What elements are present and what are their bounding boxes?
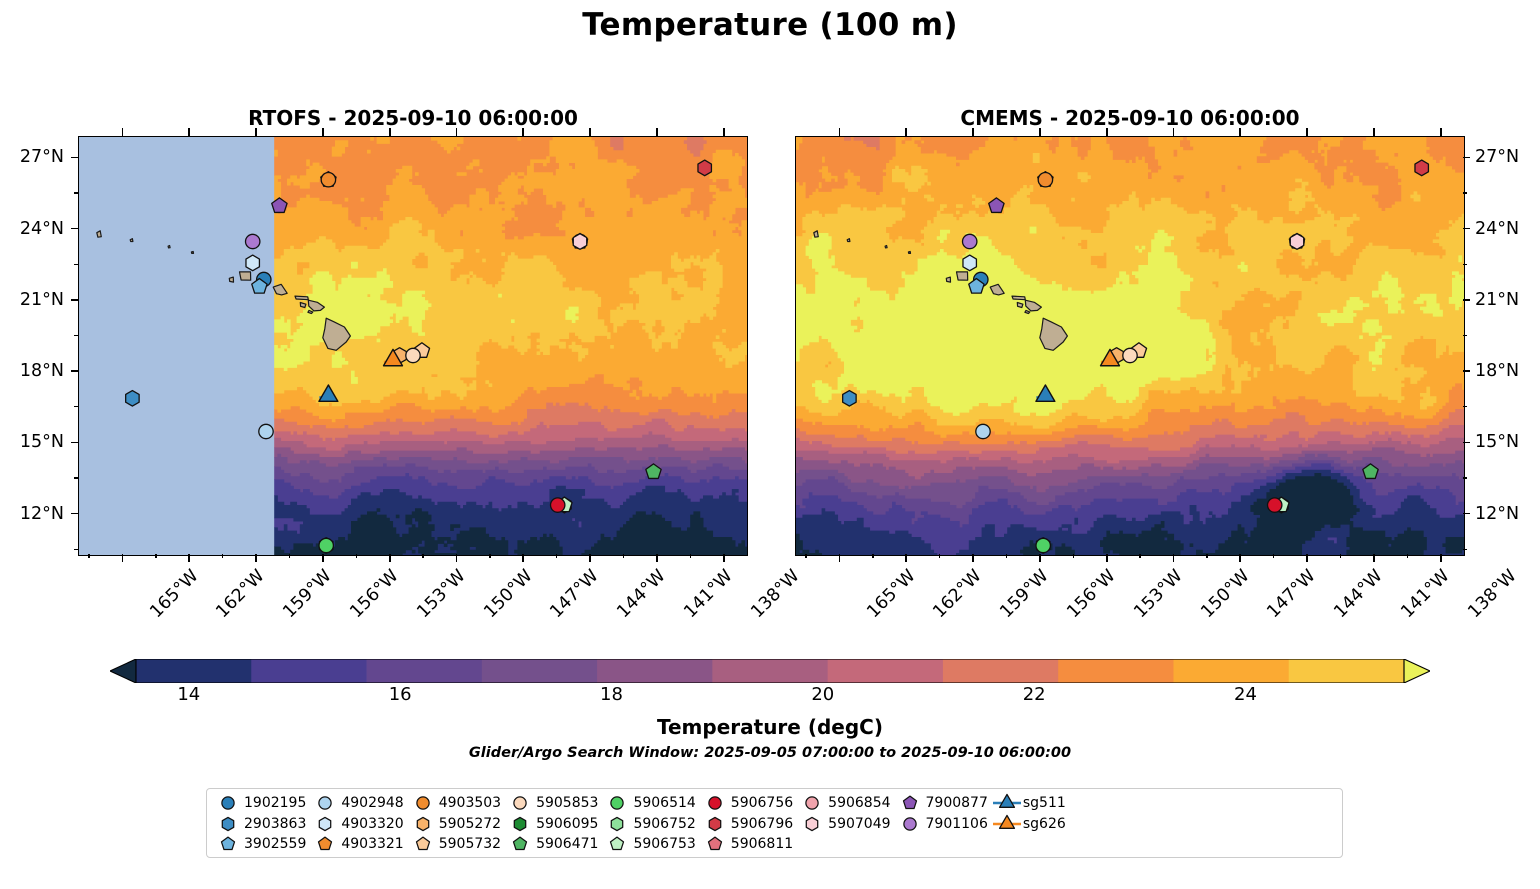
legend-item-4902948[interactable]: 4902948 [310, 793, 407, 814]
legend-item-5905732[interactable]: 5905732 [408, 834, 505, 855]
legend-label: 7901106 [925, 816, 988, 832]
legend-marker-hexagon-icon [602, 814, 632, 834]
xtick-major [1173, 554, 1175, 562]
legend-label: 5906796 [730, 816, 793, 832]
xtick-major [322, 554, 324, 562]
legend-label: 5905853 [535, 795, 598, 811]
colorbar-tick-1: 16 [360, 684, 440, 705]
xtick-major [522, 554, 524, 562]
legend-label: 4903321 [340, 836, 403, 852]
xtick-label-rtofs-5: 150°W [480, 566, 536, 622]
ytick-minor [74, 192, 78, 193]
ytick-label-rtofs-1: 24°N [0, 219, 64, 239]
xtick-major-top [1239, 128, 1241, 136]
ytick-major [1463, 228, 1470, 230]
xtick-minor [155, 554, 156, 558]
legend-label: 5906756 [730, 795, 793, 811]
legend-item-5906756[interactable]: 5906756 [700, 793, 797, 814]
xtick-label-cmems-6: 147°W [1264, 566, 1320, 622]
legend-item-5906752[interactable]: 5906752 [602, 814, 699, 835]
colorbar-tick-2: 18 [572, 684, 652, 705]
xtick-major-top [122, 128, 124, 136]
ytick-label-rtofs-4: 15°N [0, 432, 64, 452]
legend-item-5906095[interactable]: 5906095 [505, 814, 602, 835]
xtick-minor [1006, 554, 1007, 558]
legend-item-5907049[interactable]: 5907049 [797, 814, 894, 835]
xtick-label-cmems-1: 162°W [930, 566, 986, 622]
xtick-label-rtofs-8: 141°W [680, 566, 736, 622]
xtick-major [122, 554, 124, 562]
colorbar [110, 659, 1430, 683]
ytick-major [71, 157, 78, 159]
xtick-major [839, 554, 841, 562]
ytick-label-cmems-2: 21°N [1475, 290, 1540, 310]
legend-marker-pentagon-icon [213, 834, 243, 854]
xtick-label-cmems-5: 150°W [1197, 566, 1253, 622]
xtick-major-top [456, 128, 458, 136]
legend-item-5905272[interactable]: 5905272 [408, 814, 505, 835]
legend-marker-pentagon-icon [408, 834, 438, 854]
legend-item-5905853[interactable]: 5905853 [505, 793, 602, 814]
ytick-minor [1463, 335, 1467, 336]
ytick-label-cmems-3: 18°N [1475, 361, 1540, 381]
xtick-label-cmems-4: 153°W [1130, 566, 1186, 622]
legend-item-4903321[interactable]: 4903321 [310, 834, 407, 855]
legend-marker-hexagon-icon [310, 814, 340, 834]
legend-label: 5906811 [730, 836, 793, 852]
ytick-minor [74, 477, 78, 478]
ytick-minor [1463, 406, 1467, 407]
legend-marker-pentagon-icon [895, 793, 925, 813]
colorbar-tick-5: 24 [1206, 684, 1286, 705]
ytick-minor [1463, 192, 1467, 193]
xtick-major [255, 554, 257, 562]
legend-item-2903863[interactable]: 2903863 [213, 814, 310, 835]
ytick-major [1463, 299, 1470, 301]
xtick-minor [1206, 554, 1207, 558]
xtick-major-top [1173, 128, 1175, 136]
xtick-label-cmems-0: 165°W [863, 566, 919, 622]
legend-label: 5906752 [632, 816, 695, 832]
xtick-label-rtofs-2: 159°W [280, 566, 336, 622]
legend-marker-pentagon-icon [505, 834, 535, 854]
xtick-label-cmems-9: 138°W [1464, 566, 1520, 622]
legend-marker-pentagon-icon [310, 834, 340, 854]
legend-label: 4903320 [340, 816, 403, 832]
xtick-minor [1407, 554, 1408, 558]
xtick-major-top [389, 128, 391, 136]
xtick-minor [805, 554, 806, 558]
ytick-minor [1463, 549, 1467, 550]
xtick-minor [872, 554, 873, 558]
ytick-major [1463, 157, 1470, 159]
ytick-minor [74, 549, 78, 550]
map-panel-rtofs[interactable] [78, 136, 748, 556]
xtick-major [723, 554, 725, 562]
xtick-label-rtofs-3: 156°W [346, 566, 402, 622]
legend-label: 5905732 [438, 836, 501, 852]
legend-item-1902195[interactable]: 1902195 [213, 793, 310, 814]
ytick-major [71, 370, 78, 372]
xtick-minor [1073, 554, 1074, 558]
legend-label: sg626 [1022, 816, 1066, 832]
xtick-major [905, 554, 907, 562]
colorbar-title: Temperature (degC) [0, 715, 1540, 739]
ytick-minor [1463, 264, 1467, 265]
xtick-minor [489, 554, 490, 558]
legend-label: 4903503 [438, 795, 501, 811]
legend-item-4903320[interactable]: 4903320 [310, 814, 407, 835]
xtick-minor [88, 554, 89, 558]
xtick-major [1039, 554, 1041, 562]
xtick-major [1373, 554, 1375, 562]
xtick-major [1239, 554, 1241, 562]
legend-marker-pentagon-icon [700, 834, 730, 854]
xtick-major [589, 554, 591, 562]
legend-marker-triangle-line-icon [992, 814, 1022, 834]
legend-item-7901106[interactable]: 7901106 [895, 814, 992, 835]
xtick-major [456, 554, 458, 562]
xtick-major-top [322, 128, 324, 136]
ytick-minor [74, 406, 78, 407]
search-window-caption: Glider/Argo Search Window: 2025-09-05 07… [0, 745, 1540, 761]
legend-marker-hexagon-icon [213, 814, 243, 834]
legend-label: 5906514 [632, 795, 695, 811]
xtick-major [188, 554, 190, 562]
legend-marker-triangle-line-icon [992, 793, 1022, 813]
xtick-major-top [1106, 128, 1108, 136]
colorbar-tick-3: 20 [783, 684, 863, 705]
xtick-minor [1273, 554, 1274, 558]
ytick-label-rtofs-5: 12°N [0, 504, 64, 524]
legend-item-sg511[interactable]: sg511 [992, 793, 1070, 814]
ytick-major [1463, 370, 1470, 372]
xtick-minor [222, 554, 223, 558]
ytick-minor [1463, 477, 1467, 478]
colorbar-tick-0: 14 [149, 684, 229, 705]
legend-item-3902559[interactable]: 3902559 [213, 834, 310, 855]
legend-item-5906514[interactable]: 5906514 [602, 793, 699, 814]
legend-marker-hexagon-icon [408, 814, 438, 834]
legend-item-7900877[interactable]: 7900877 [895, 793, 992, 814]
marker-legend: 1902195 2903863 3902559 [206, 788, 1343, 858]
xtick-major-top [522, 128, 524, 136]
xtick-label-rtofs-1: 162°W [213, 566, 269, 622]
xtick-major-top [972, 128, 974, 136]
xtick-major [389, 554, 391, 562]
panel-title-rtofs: RTOFS - 2025-09-10 06:00:00 [78, 106, 748, 130]
legend-item-4903503[interactable]: 4903503 [408, 793, 505, 814]
figure-title: Temperature (100 m) [0, 7, 1540, 43]
legend-label: 5906753 [632, 836, 695, 852]
ytick-label-cmems-1: 24°N [1475, 219, 1540, 239]
legend-label: 5906095 [535, 816, 598, 832]
xtick-minor [422, 554, 423, 558]
xtick-label-cmems-3: 156°W [1063, 566, 1119, 622]
xtick-major [1306, 554, 1308, 562]
xtick-label-rtofs-0: 165°W [146, 566, 202, 622]
map-field-rtofs [79, 137, 747, 555]
legend-label: 5906471 [535, 836, 598, 852]
xtick-major-top [905, 128, 907, 136]
xtick-major [1106, 554, 1108, 562]
legend-item-5906796[interactable]: 5906796 [700, 814, 797, 835]
xtick-minor [623, 554, 624, 558]
xtick-major [1440, 554, 1442, 562]
legend-label: 2903863 [243, 816, 306, 832]
ytick-major [1463, 442, 1470, 444]
ytick-major [71, 442, 78, 444]
xtick-major-top [188, 128, 190, 136]
legend-item-5906471[interactable]: 5906471 [505, 834, 602, 855]
xtick-major-top [656, 128, 658, 136]
legend-marker-hexagon-icon [505, 814, 535, 834]
legend-label: sg511 [1022, 795, 1066, 811]
xtick-major-top [1440, 128, 1442, 136]
legend-label: 7900877 [925, 795, 988, 811]
ytick-label-rtofs-0: 27°N [0, 147, 64, 167]
legend-label: 3902559 [243, 836, 306, 852]
ytick-label-rtofs-2: 21°N [0, 290, 64, 310]
xtick-major-top [255, 128, 257, 136]
panel-title-cmems: CMEMS - 2025-09-10 06:00:00 [795, 106, 1465, 130]
xtick-major-top [1373, 128, 1375, 136]
xtick-label-rtofs-4: 153°W [413, 566, 469, 622]
legend-marker-circle-icon [602, 793, 632, 813]
legend-label: 4902948 [340, 795, 403, 811]
colorbar-tick-4: 22 [994, 684, 1074, 705]
xtick-label-rtofs-7: 144°W [614, 566, 670, 622]
ytick-minor [74, 335, 78, 336]
xtick-minor [1139, 554, 1140, 558]
legend-marker-hexagon-icon [700, 814, 730, 834]
legend-item-5906753[interactable]: 5906753 [602, 834, 699, 855]
xtick-major [972, 554, 974, 562]
ytick-label-rtofs-3: 18°N [0, 361, 64, 381]
xtick-minor [939, 554, 940, 558]
legend-marker-circle-icon [895, 814, 925, 834]
legend-marker-circle-icon [310, 793, 340, 813]
xtick-major-top [1039, 128, 1041, 136]
xtick-major-top [1306, 128, 1308, 136]
xtick-minor [690, 554, 691, 558]
xtick-label-cmems-2: 159°W [997, 566, 1053, 622]
legend-marker-circle-icon [797, 793, 827, 813]
ytick-label-cmems-5: 12°N [1475, 504, 1540, 524]
xtick-label-cmems-8: 141°W [1397, 566, 1453, 622]
ytick-major [71, 299, 78, 301]
legend-label: 1902195 [243, 795, 306, 811]
xtick-major-top [589, 128, 591, 136]
xtick-major [656, 554, 658, 562]
ytick-major [71, 513, 78, 515]
legend-marker-circle-icon [213, 793, 243, 813]
xtick-major-top [839, 128, 841, 136]
xtick-label-rtofs-6: 147°W [547, 566, 603, 622]
legend-marker-hexagon-icon [797, 814, 827, 834]
xtick-label-cmems-7: 144°W [1331, 566, 1387, 622]
ytick-label-cmems-4: 15°N [1475, 432, 1540, 452]
legend-label: 5907049 [827, 816, 890, 832]
map-field-cmems [796, 137, 1464, 555]
xtick-minor [1340, 554, 1341, 558]
legend-label: 5905272 [438, 816, 501, 832]
legend-item-5906811[interactable]: 5906811 [700, 834, 797, 855]
xtick-minor [356, 554, 357, 558]
legend-item-5906854[interactable]: 5906854 [797, 793, 894, 814]
legend-marker-circle-icon [505, 793, 535, 813]
legend-marker-circle-icon [408, 793, 438, 813]
xtick-major-top [723, 128, 725, 136]
ytick-minor [74, 264, 78, 265]
ytick-major [71, 228, 78, 230]
xtick-label-rtofs-9: 138°W [747, 566, 803, 622]
xtick-minor [289, 554, 290, 558]
legend-label: 5906854 [827, 795, 890, 811]
legend-item-sg626[interactable]: sg626 [992, 814, 1070, 835]
map-panel-cmems[interactable] [795, 136, 1465, 556]
xtick-minor [556, 554, 557, 558]
legend-marker-circle-icon [700, 793, 730, 813]
ytick-major [1463, 513, 1470, 515]
legend-marker-pentagon-icon [602, 834, 632, 854]
ytick-label-cmems-0: 27°N [1475, 147, 1540, 167]
